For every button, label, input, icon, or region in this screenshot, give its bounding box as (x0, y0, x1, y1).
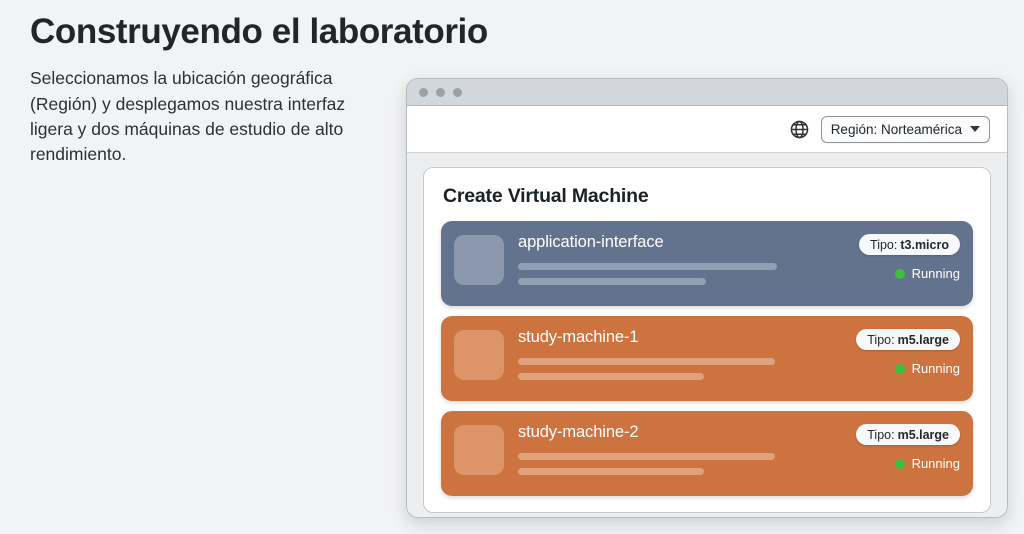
vm-info: study-machine-2 (518, 422, 856, 483)
vm-type-badge: Tipo: m5.large (856, 424, 960, 445)
vm-thumbnail-placeholder (454, 330, 504, 380)
minimize-dot-icon[interactable] (436, 88, 445, 97)
vm-type-prefix: Tipo: (867, 333, 894, 347)
region-dropdown[interactable]: Región: Norteamérica (821, 116, 990, 143)
vm-thumbnail-placeholder (454, 235, 504, 285)
status-dot-icon (895, 459, 905, 469)
vm-status: Running (895, 456, 960, 471)
vm-card[interactable]: application-interface Tipo: t3.micro Run… (441, 221, 973, 306)
vm-status-label: Running (912, 456, 960, 471)
maximize-dot-icon[interactable] (453, 88, 462, 97)
vm-type-value: m5.large (898, 428, 949, 442)
vm-skeleton-line (518, 373, 704, 380)
vm-name: application-interface (518, 233, 859, 252)
globe-icon (789, 119, 810, 140)
vm-skeleton-line (518, 358, 775, 365)
vm-type-badge: Tipo: m5.large (856, 329, 960, 350)
slide-description: Seleccionamos la ubicación geográfica (R… (30, 66, 365, 168)
vm-meta: Tipo: m5.large Running (856, 327, 960, 376)
region-dropdown-label: Región: Norteamérica (831, 122, 962, 137)
create-vm-panel: Create Virtual Machine application-inter… (423, 167, 991, 513)
window-toolbar: Región: Norteamérica (407, 106, 1007, 153)
window-content: Create Virtual Machine application-inter… (407, 153, 1007, 518)
panel-title: Create Virtual Machine (443, 185, 973, 208)
vm-card[interactable]: study-machine-2 Tipo: m5.large Running (441, 411, 973, 496)
vm-info: application-interface (518, 232, 859, 293)
vm-thumbnail-placeholder (454, 425, 504, 475)
status-dot-icon (895, 364, 905, 374)
vm-list: application-interface Tipo: t3.micro Run… (441, 221, 973, 496)
vm-type-prefix: Tipo: (867, 428, 894, 442)
vm-skeleton-line (518, 453, 775, 460)
vm-type-prefix: Tipo: (870, 238, 897, 252)
vm-type-value: t3.micro (900, 238, 949, 252)
vm-name: study-machine-1 (518, 328, 856, 347)
vm-meta: Tipo: m5.large Running (856, 422, 960, 471)
window-titlebar (407, 79, 1007, 106)
vm-meta: Tipo: t3.micro Running (859, 232, 960, 281)
vm-info: study-machine-1 (518, 327, 856, 388)
vm-skeleton-line (518, 263, 777, 270)
close-dot-icon[interactable] (419, 88, 428, 97)
vm-status-label: Running (912, 361, 960, 376)
chevron-down-icon (970, 126, 980, 132)
browser-window: Región: Norteamérica Create Virtual Mach… (406, 78, 1008, 518)
vm-skeleton-line (518, 278, 706, 285)
status-dot-icon (895, 269, 905, 279)
vm-status: Running (895, 361, 960, 376)
vm-status-label: Running (912, 266, 960, 281)
vm-type-value: m5.large (898, 333, 949, 347)
vm-skeleton-line (518, 468, 704, 475)
vm-status: Running (895, 266, 960, 281)
vm-type-badge: Tipo: t3.micro (859, 234, 960, 255)
vm-name: study-machine-2 (518, 423, 856, 442)
slide-copy-column: Construyendo el laboratorio Seleccionamo… (30, 12, 380, 168)
page-title: Construyendo el laboratorio (30, 12, 380, 52)
vm-card[interactable]: study-machine-1 Tipo: m5.large Running (441, 316, 973, 401)
